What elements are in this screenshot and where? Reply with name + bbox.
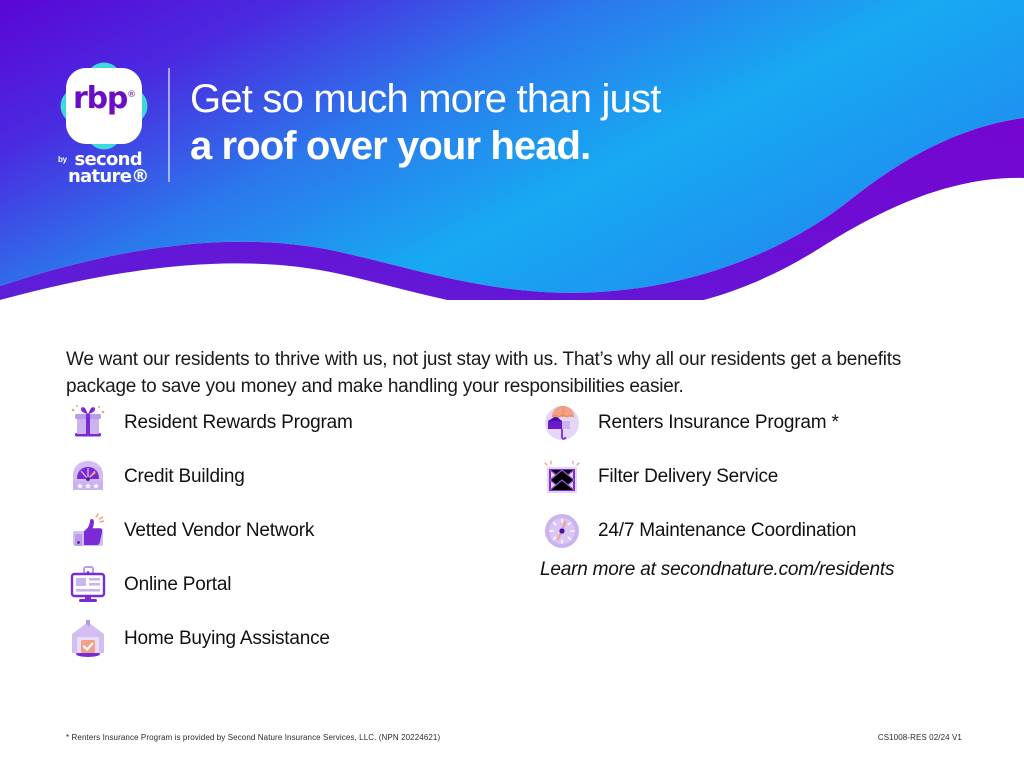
benefit-item-renters-insurance-program: Renters Insurance Program *	[540, 396, 970, 450]
rbp-logo: rbp® by second nature®	[58, 60, 166, 185]
house-check-icon	[66, 617, 110, 661]
footer-disclaimer: * Renters Insurance Program is provided …	[66, 733, 440, 742]
logo-by-label: by	[58, 156, 67, 164]
air-filter-icon	[540, 455, 584, 499]
credit-score-badge-icon	[66, 455, 110, 499]
benefit-label: Online Portal	[124, 574, 231, 596]
benefit-label: Credit Building	[124, 466, 245, 488]
logo-rbp-letters: rbp	[73, 81, 127, 116]
monitor-icon	[66, 563, 110, 607]
learn-more-text: Learn more at secondnature.com/residents	[540, 559, 894, 581]
benefit-label: Renters Insurance Program *	[598, 412, 839, 434]
benefit-label: Resident Rewards Program	[124, 412, 353, 434]
gift-icon	[66, 401, 110, 445]
thumbs-up-icon	[66, 509, 110, 553]
headline-line-2: a roof over your head.	[190, 123, 661, 170]
hero-headline: Get so much more than just a roof over y…	[190, 76, 661, 170]
benefit-item-filter-delivery-service: Filter Delivery Service	[540, 450, 970, 504]
benefit-item-vetted-vendor-network: Vetted Vendor Network	[66, 504, 506, 558]
benefit-item-credit-building: Credit Building	[66, 450, 506, 504]
logo-registered-mark: ®	[127, 90, 135, 100]
benefit-label: Home Buying Assistance	[124, 628, 330, 650]
benefits-column-left: Resident Rewards Program Credit Building	[66, 396, 506, 666]
hero-banner: rbp® by second nature® Get so much more …	[0, 0, 1024, 300]
benefit-item-resident-rewards-program: Resident Rewards Program	[66, 396, 506, 450]
footer-document-code: CS1008-RES 02/24 V1	[878, 733, 962, 742]
headline-line-1: Get so much more than just	[190, 76, 661, 123]
benefit-item-maintenance-coordination: 24/7 Maintenance Coordination	[540, 504, 970, 558]
benefit-label: Filter Delivery Service	[598, 466, 778, 488]
intro-paragraph: We want our residents to thrive with us,…	[66, 347, 946, 401]
clock-icon	[540, 509, 584, 553]
benefit-label: 24/7 Maintenance Coordination	[598, 520, 856, 542]
benefits-column-right: Renters Insurance Program *	[540, 396, 970, 558]
logo-nature-label: nature®	[68, 166, 149, 187]
logo-rbp-wordmark: rbp®	[58, 84, 150, 114]
benefit-item-online-portal: Online Portal	[66, 558, 506, 612]
logo-by-second-nature: by second nature®	[58, 152, 158, 185]
benefit-label: Vetted Vendor Network	[124, 520, 314, 542]
benefit-item-home-buying-assistance: Home Buying Assistance	[66, 612, 506, 666]
umbrella-sofa-icon	[540, 401, 584, 445]
logo-divider	[168, 68, 170, 182]
